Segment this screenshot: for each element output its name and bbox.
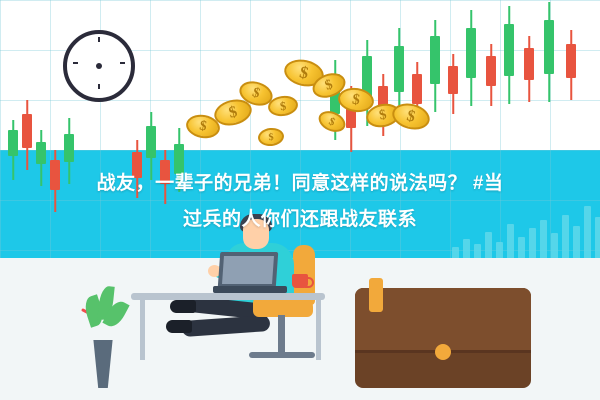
candlestick-body [64, 134, 74, 162]
chart-bar [474, 244, 481, 258]
person-shoe [170, 300, 196, 313]
candlestick-body [8, 130, 18, 156]
candlestick-body [448, 66, 458, 94]
candlestick-body [566, 44, 576, 78]
chair-post [278, 315, 285, 355]
candlestick-body [36, 142, 46, 164]
laptop-screen [218, 252, 279, 288]
wallet-clasp [435, 344, 451, 360]
candlestick-body [394, 46, 404, 92]
candlestick [544, 2, 554, 102]
person-shoe [166, 320, 192, 333]
caption-line-2: 过兵的人你们还跟战友联系 [0, 202, 600, 238]
chart-bar [452, 247, 459, 258]
candlestick [430, 20, 440, 112]
leather-wallet [355, 288, 531, 388]
desk-leg [140, 300, 145, 360]
caption-line-1: 战友，一辈子的兄弟！同意这样的说法吗？ #当 [97, 173, 504, 194]
candlestick-body [524, 48, 534, 80]
candlestick [524, 36, 534, 102]
wallet-card [369, 278, 383, 312]
wallet-flap [355, 288, 531, 350]
candlestick-body [146, 126, 156, 158]
grid-line-horizontal [0, 0, 600, 1]
wall-clock-icon [63, 30, 135, 102]
candlestick-body [544, 20, 554, 74]
chart-bar [463, 239, 470, 258]
chair-base [249, 352, 315, 358]
candlestick [22, 100, 32, 170]
chart-bar [518, 237, 525, 258]
desk-surface [131, 293, 325, 300]
caption-text: 战友，一辈子的兄弟！同意这样的说法吗？ #当 过兵的人你们还跟战友联系 [0, 166, 600, 238]
promo-image: $$$$$$$$$$$ 战友，一 [0, 0, 600, 400]
grid-line-horizontal [0, 150, 600, 151]
candlestick [448, 54, 458, 114]
candlestick [566, 30, 576, 100]
candlestick-body [504, 24, 514, 76]
candlestick-body [486, 56, 496, 86]
candlestick-body [412, 74, 422, 104]
chair-seat [253, 297, 313, 317]
candlestick-body [466, 28, 476, 78]
candlestick-body [430, 36, 440, 84]
desk-leg [316, 300, 321, 360]
candlestick [486, 44, 496, 106]
candlestick-body [22, 114, 32, 148]
laptop-base [213, 286, 287, 293]
candlestick [504, 6, 514, 104]
chart-bar [496, 242, 503, 258]
coffee-cup [292, 274, 308, 288]
candlestick [466, 10, 476, 106]
